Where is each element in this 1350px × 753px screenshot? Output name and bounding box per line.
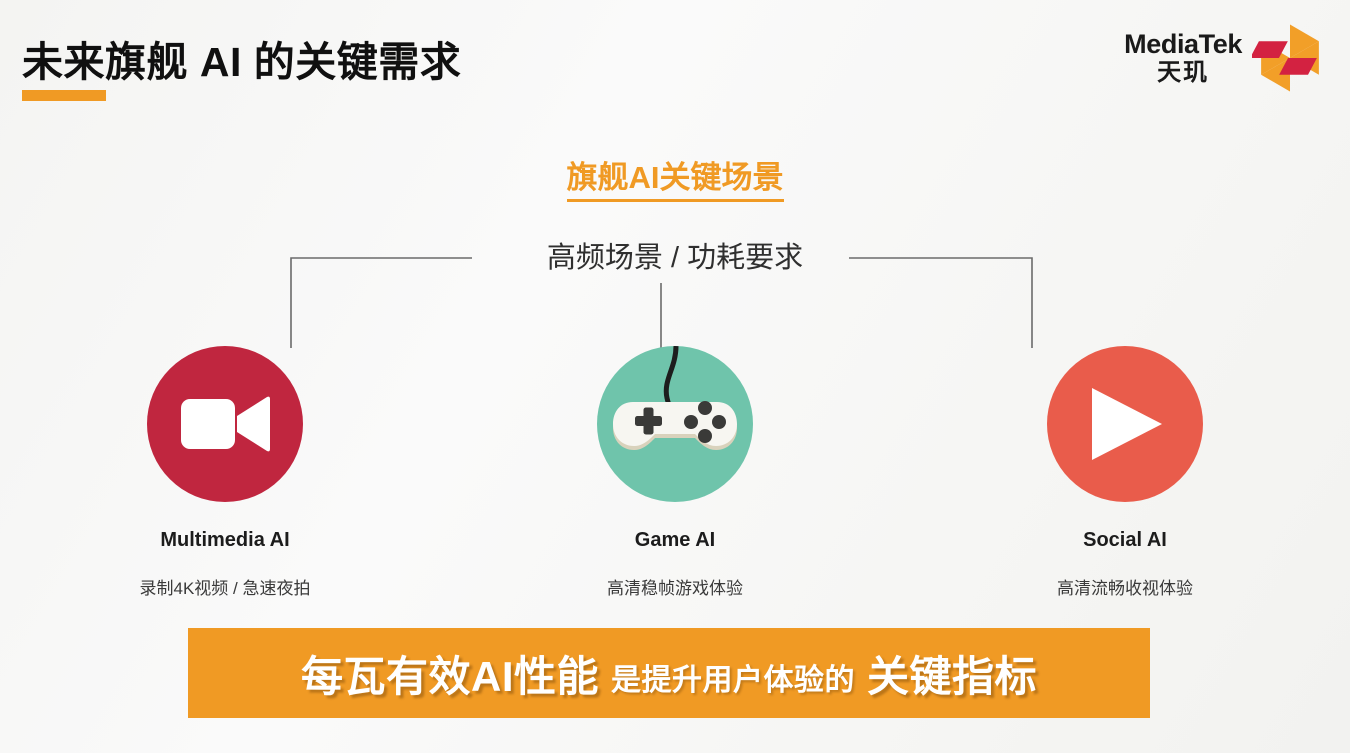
scenario-columns: Multimedia AI 录制4K视频 / 急速夜拍 — [0, 346, 1350, 599]
banner-text-primary: 每瓦有效AI性能 — [301, 643, 599, 704]
page-title: 未来旗舰 AI 的关键需求 — [22, 28, 461, 88]
banner-text-tertiary: 关键指标 — [867, 643, 1037, 704]
social-label: Social AI — [1083, 529, 1167, 552]
mediatek-pinwheel-icon — [1252, 20, 1328, 96]
game-description: 高清稳帧游戏体验 — [607, 574, 743, 599]
title-underline-bar — [22, 90, 106, 101]
key-metric-banner: 每瓦有效AI性能 是提升用户体验的 关键指标 — [188, 628, 1150, 718]
logo-name-en: MediaTek — [1124, 31, 1242, 58]
slide-canvas: 未来旗舰 AI 的关键需求 MediaTek 天玑 旗舰AI关键场景 高频场景 … — [0, 0, 1350, 753]
logo-name-cn: 天玑 — [1157, 61, 1209, 85]
social-description: 高清流畅收视体验 — [1057, 574, 1193, 599]
scene-subtitle: 高频场景 / 功耗要求 — [0, 234, 1350, 276]
multimedia-description: 录制4K视频 / 急速夜拍 — [140, 574, 311, 599]
scenario-column-multimedia: Multimedia AI 录制4K视频 / 急速夜拍 — [0, 346, 450, 599]
multimedia-label: Multimedia AI — [160, 529, 289, 552]
game-controller-icon — [597, 346, 753, 502]
scene-title: 旗舰AI关键场景 — [0, 152, 1350, 197]
scenario-column-game: Game AI 高清稳帧游戏体验 — [450, 346, 900, 599]
mediatek-logo: MediaTek 天玑 — [1124, 20, 1328, 96]
game-label: Game AI — [635, 529, 715, 552]
banner-text-secondary: 是提升用户体验的 — [611, 655, 855, 699]
logo-wordmark: MediaTek 天玑 — [1124, 31, 1242, 85]
game-icon-circle — [597, 346, 753, 502]
social-icon-circle — [1047, 346, 1203, 502]
video-camera-icon — [179, 391, 271, 457]
scenario-column-social: Social AI 高清流畅收视体验 — [900, 346, 1350, 599]
multimedia-icon-circle — [147, 346, 303, 502]
scene-title-text: 旗舰AI关键场景 — [567, 160, 784, 202]
play-button-icon — [1084, 384, 1166, 464]
